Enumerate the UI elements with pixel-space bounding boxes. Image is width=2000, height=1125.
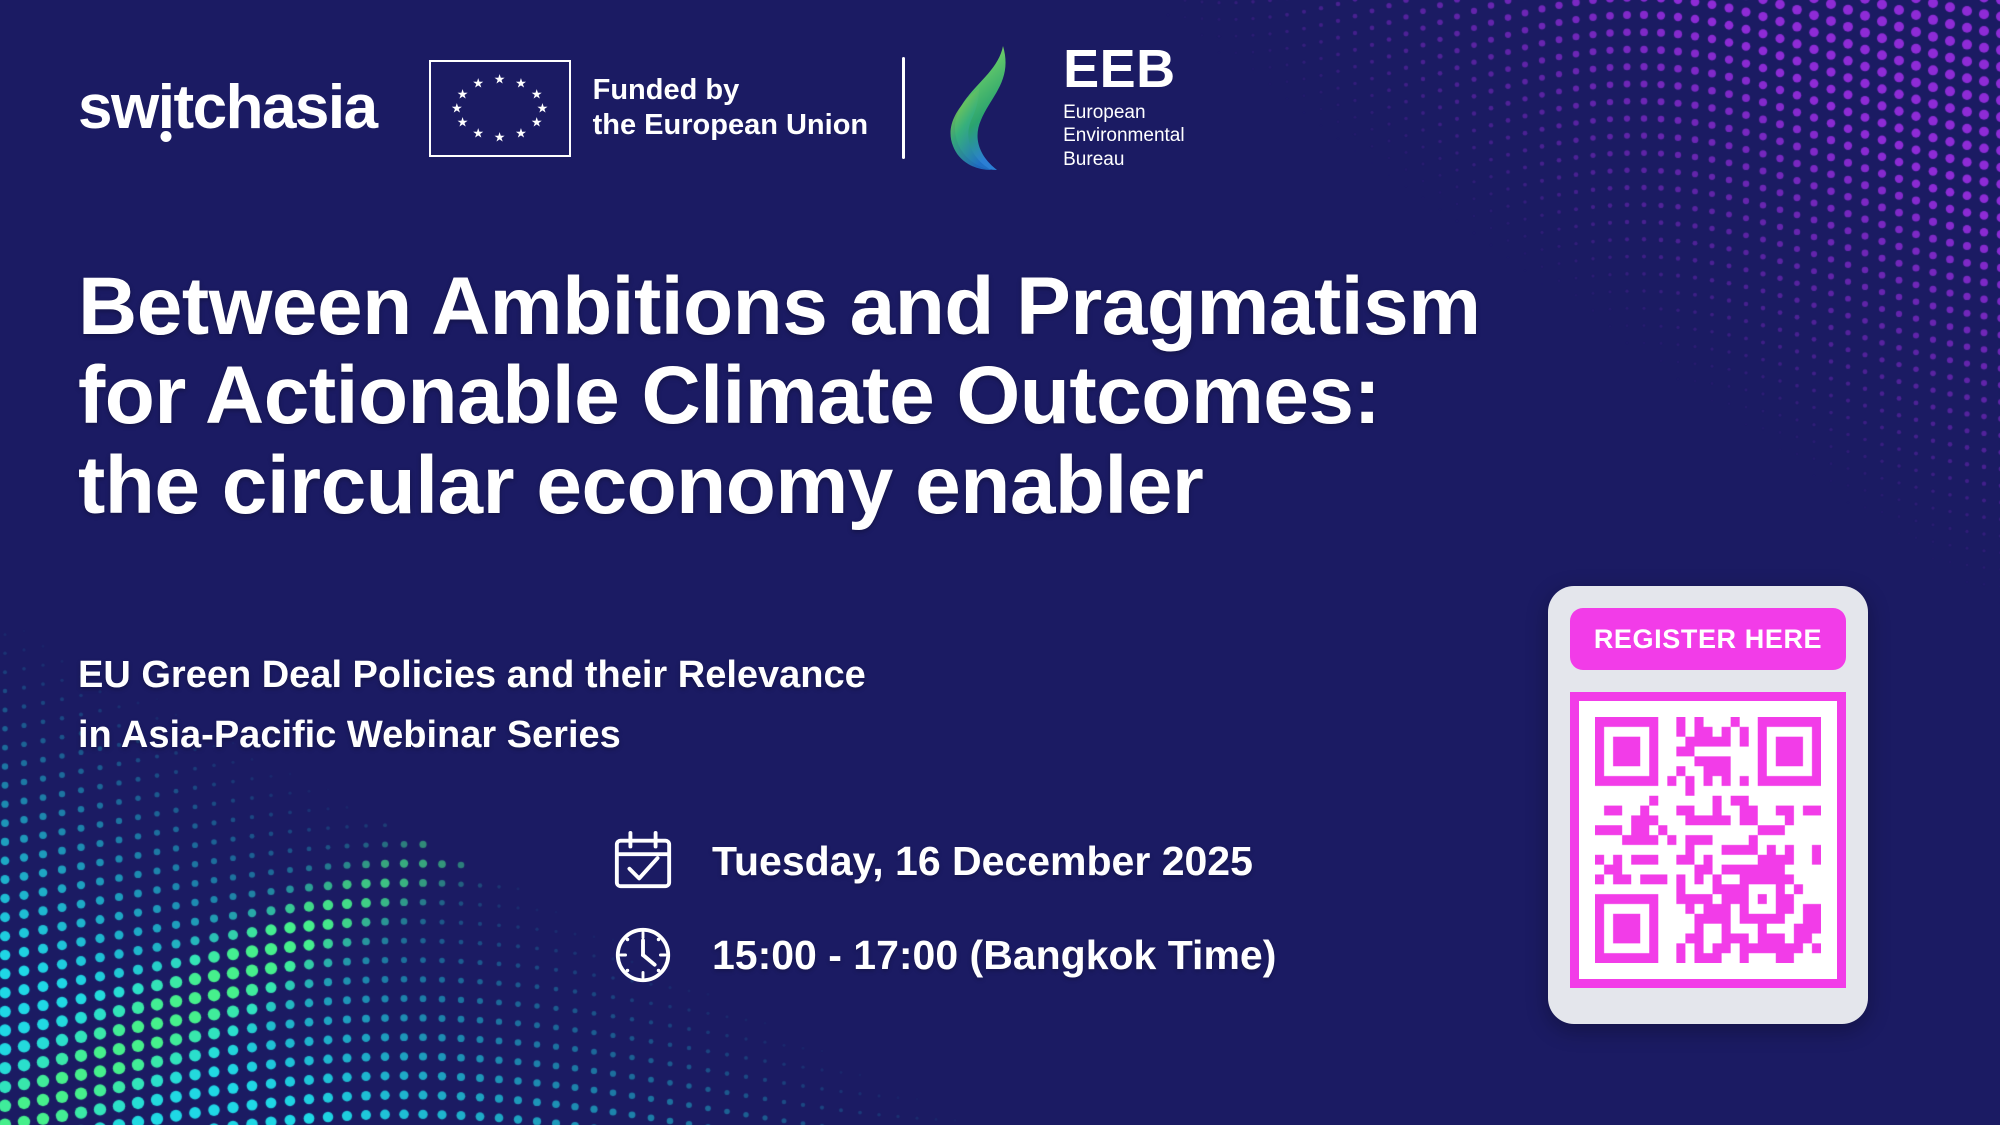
eu-star-icon: ★	[472, 77, 484, 90]
header-logo-bar: switchasia ★★★★★★★★★★★★ Funded by the Eu…	[78, 48, 1185, 168]
qr-code-frame	[1570, 692, 1846, 988]
eu-star-icon: ★	[537, 102, 549, 115]
page-subtitle: EU Green Deal Policies and their Relevan…	[78, 645, 866, 765]
headline-line-1: Between Ambitions and Pragmatism	[78, 262, 1558, 351]
eu-star-icon: ★	[515, 77, 527, 90]
event-details: Tuesday, 16 December 2025 15:00 - 17:00 …	[612, 830, 1276, 986]
eeb-text-block: EEB European Environmental Bureau	[1063, 44, 1184, 172]
vertical-divider-icon	[902, 57, 905, 159]
registration-card: REGISTER HERE	[1548, 586, 1868, 1024]
eeb-acronym: EEB	[1063, 44, 1184, 95]
qr-code-inner	[1579, 701, 1837, 979]
headline-line-2: for Actionable Climate Outcomes:	[78, 351, 1558, 440]
event-time-text: 15:00 - 17:00 (Bangkok Time)	[712, 935, 1276, 976]
switchasia-pre: sw	[78, 73, 158, 142]
switchasia-underdot-icon	[160, 131, 171, 142]
promo-banner: switchasia ★★★★★★★★★★★★ Funded by the Eu…	[0, 0, 2000, 1125]
qr-code-icon[interactable]	[1595, 717, 1821, 963]
switchasia-post: tchasia	[173, 73, 376, 142]
eu-funding-label: Funded by the European Union	[593, 73, 869, 144]
eu-star-icon: ★	[457, 87, 469, 100]
eu-star-icon: ★	[457, 116, 469, 129]
page-title: Between Ambitions and Pragmatism for Act…	[78, 262, 1558, 530]
event-time-row: 15:00 - 17:00 (Bangkok Time)	[612, 924, 1276, 986]
eu-star-icon: ★	[494, 130, 506, 143]
eu-star-icon: ★	[472, 126, 484, 139]
subtitle-line-2: in Asia-Pacific Webinar Series	[78, 705, 866, 765]
eu-star-icon: ★	[531, 87, 543, 100]
clock-icon	[612, 924, 674, 986]
subtitle-line-1: EU Green Deal Policies and their Relevan…	[78, 645, 866, 705]
event-date-text: Tuesday, 16 December 2025	[712, 841, 1253, 882]
eu-flag-icon: ★★★★★★★★★★★★	[429, 60, 571, 157]
headline-line-3: the circular economy enabler	[78, 441, 1558, 530]
eeb-full-name: European Environmental Bureau	[1063, 101, 1184, 172]
event-date-row: Tuesday, 16 December 2025	[612, 830, 1276, 892]
register-button[interactable]: REGISTER HERE	[1570, 608, 1846, 670]
eeb-logo-block: EEB European Environmental Bureau	[939, 44, 1184, 172]
eu-star-icon: ★	[531, 116, 543, 129]
eeb-leaf-icon	[939, 44, 1047, 172]
calendar-check-icon	[612, 830, 674, 892]
switchasia-dotted-i: i	[158, 73, 174, 142]
eu-funding-block: ★★★★★★★★★★★★ Funded by the European Unio…	[429, 60, 869, 157]
eu-star-icon: ★	[494, 73, 506, 86]
eu-star-icon: ★	[515, 126, 527, 139]
eu-star-icon: ★	[451, 102, 463, 115]
switchasia-logo: switchasia	[78, 77, 407, 139]
